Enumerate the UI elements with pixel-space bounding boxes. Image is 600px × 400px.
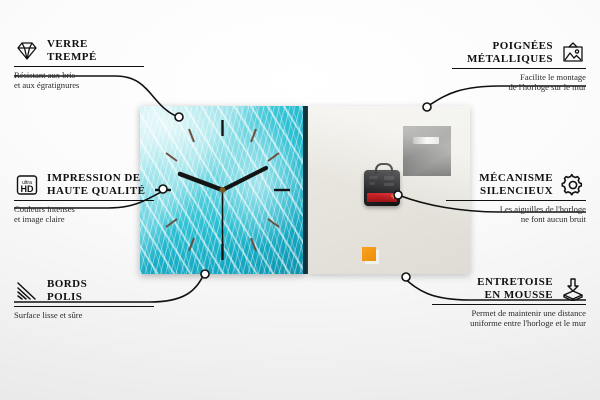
metal-hanger-plate [403, 126, 451, 176]
foam-spacer-arrow-icon [560, 277, 586, 301]
feature-title: VERRE TREMPÉ [47, 38, 97, 63]
foam-spacer [362, 247, 376, 261]
svg-text:HD: HD [21, 184, 34, 194]
divider [452, 68, 586, 69]
feature-subtitle: Facilite le montage de l'horloge sur le … [452, 72, 586, 93]
feature-title: IMPRESSION DE HAUTE QUALITÉ [47, 172, 145, 197]
gear-icon [560, 173, 586, 197]
feature-subtitle: Les aiguilles de l'horloge ne font aucun… [446, 204, 586, 225]
feature-title: POIGNÉES MÉTALLIQUES [467, 40, 553, 65]
feature-poignees-metalliques: POIGNÉES MÉTALLIQUES Facilite le montage… [452, 40, 586, 93]
feature-subtitle: Résistant aux bris et aux égratignures [14, 70, 144, 91]
movement-detail [369, 176, 378, 179]
quartz-movement [364, 170, 400, 206]
feature-title: ENTRETOISE EN MOUSSE [477, 276, 553, 301]
feature-bords-polis: BORDS POLIS Surface lisse et sûre [14, 278, 154, 320]
divider [14, 306, 154, 307]
divider [432, 304, 586, 305]
clock-dial [140, 106, 305, 274]
hanging-frame-icon [560, 41, 586, 65]
feature-title: MÉCANISME SILENCIEUX [479, 172, 553, 197]
feature-header: ENTRETOISE EN MOUSSE [432, 276, 586, 301]
feature-header: POIGNÉES MÉTALLIQUES [452, 40, 586, 65]
ultra-hd-icon: ultra HD [14, 173, 40, 197]
product-image [140, 106, 470, 274]
divider [446, 200, 586, 201]
diamond-icon [14, 39, 40, 63]
infographic-canvas: VERRE TREMPÉ Résistant aux bris et aux é… [0, 0, 600, 400]
feature-mecanisme-silencieux: MÉCANISME SILENCIEUX Les aiguilles de l'… [446, 172, 586, 225]
feature-subtitle: Permet de maintenir une distance uniform… [432, 308, 586, 329]
divider [14, 200, 154, 201]
feature-verre-trempe: VERRE TREMPÉ Résistant aux bris et aux é… [14, 38, 144, 91]
feature-header: VERRE TREMPÉ [14, 38, 144, 63]
movement-detail [369, 182, 375, 185]
feature-title: BORDS POLIS [47, 278, 87, 303]
divider [14, 66, 144, 67]
feature-header: BORDS POLIS [14, 278, 154, 303]
hanger-slot [413, 137, 439, 144]
feature-subtitle: Surface lisse et sûre [14, 310, 154, 320]
battery [367, 193, 397, 202]
movement-detail [384, 183, 394, 186]
feature-header: ultra HD IMPRESSION DE HAUTE QUALITÉ [14, 172, 154, 197]
feature-entretoise-en-mousse: ENTRETOISE EN MOUSSE Permet de maintenir… [432, 276, 586, 329]
polished-edge-icon [14, 279, 40, 303]
feature-header: MÉCANISME SILENCIEUX [446, 172, 586, 197]
movement-detail [384, 176, 394, 180]
feature-impression-haute-qualite: ultra HD IMPRESSION DE HAUTE QUALITÉ Cou… [14, 172, 154, 225]
feature-subtitle: Couleurs intenses et image claire [14, 204, 154, 225]
hanging-loop [375, 163, 393, 174]
